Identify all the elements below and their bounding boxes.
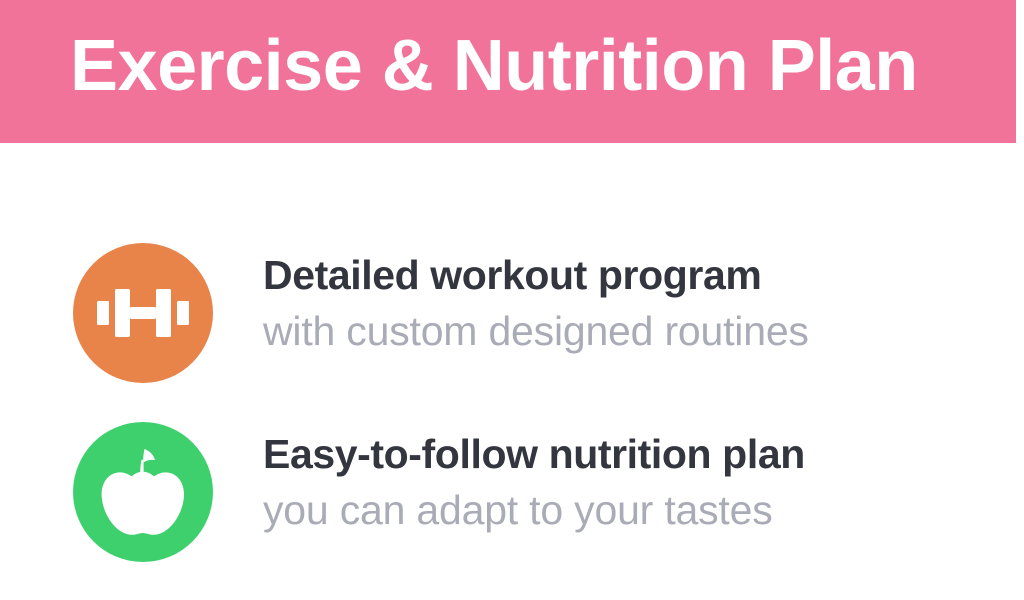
feature-text-block: Easy-to-follow nutrition plan you can ad… <box>263 428 1003 539</box>
feature-subheading: with custom designed routines <box>263 302 1003 360</box>
feature-heading: Easy-to-follow nutrition plan <box>263 428 1003 481</box>
feature-list: Detailed workout program with custom des… <box>0 143 1024 600</box>
apple-icon-badge <box>73 422 213 562</box>
feature-item-workout: Detailed workout program with custom des… <box>0 243 1024 393</box>
apple-icon <box>100 446 186 538</box>
feature-text-block: Detailed workout program with custom des… <box>263 249 1003 360</box>
feature-item-nutrition: Easy-to-follow nutrition plan you can ad… <box>0 422 1024 572</box>
dumbbell-icon <box>97 285 189 341</box>
feature-subheading: you can adapt to your tastes <box>263 481 1003 539</box>
dumbbell-icon-badge <box>73 243 213 383</box>
page-title: Exercise & Nutrition Plan <box>70 14 918 118</box>
header-banner: Exercise & Nutrition Plan <box>0 0 1016 143</box>
feature-heading: Detailed workout program <box>263 249 1003 302</box>
